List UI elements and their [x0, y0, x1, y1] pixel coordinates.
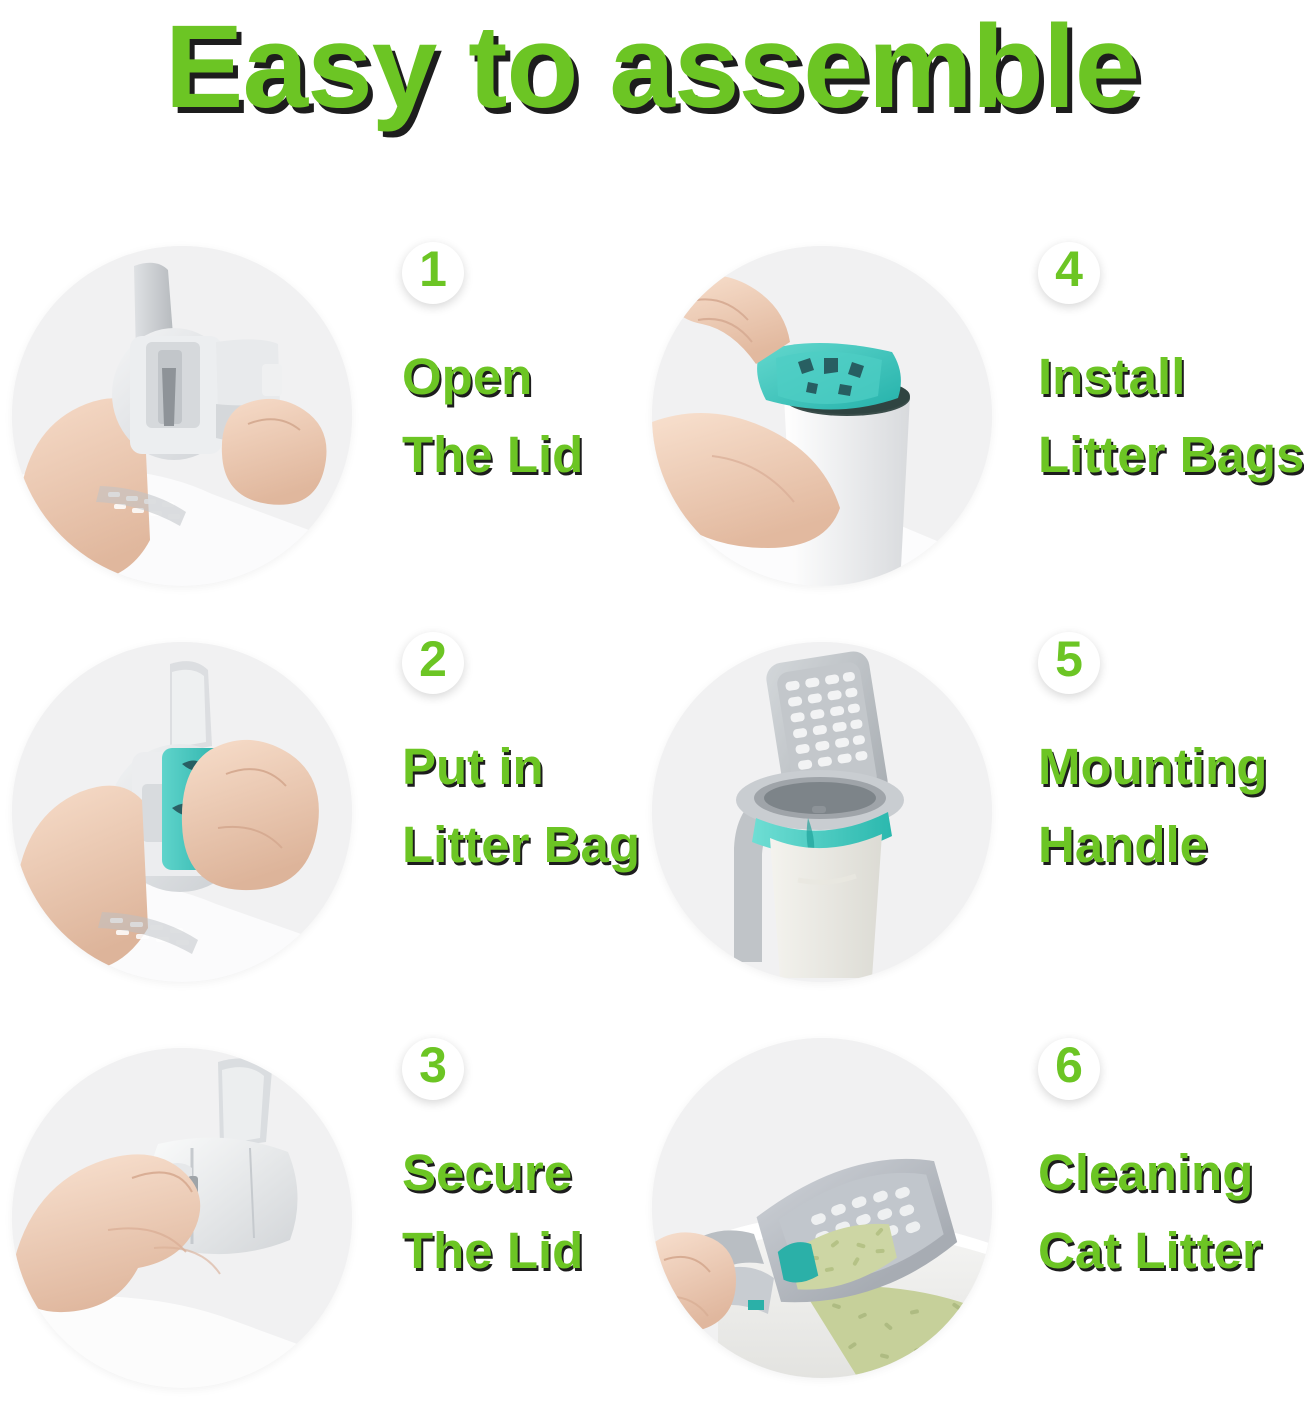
step-2-number: 2: [419, 634, 447, 684]
step-5-number: 5: [1055, 634, 1083, 684]
infographic-page: Easy to assemble: [0, 0, 1304, 1401]
step-1-text: 1 Open The Lid: [352, 232, 652, 493]
illustration-put-in-litter-bag: [12, 642, 352, 982]
step-3-number-badge: 3: [402, 1038, 464, 1100]
illustration-cleaning-cat-litter: [652, 1038, 992, 1378]
step-2-photo: [12, 642, 352, 982]
step-4-caption: Install Litter Bags: [1038, 338, 1304, 493]
step-1-number: 1: [419, 244, 447, 294]
step-4-number: 4: [1055, 244, 1083, 294]
step-5: 5 Mounting Handle: [652, 622, 1304, 1028]
step-4-photo: [652, 246, 992, 586]
step-1: 1 Open The Lid: [0, 232, 652, 622]
step-4: 4 Install Litter Bags: [652, 232, 1304, 622]
step-1-photo: [12, 246, 352, 586]
step-3-text: 3 Secure The Lid: [352, 1028, 652, 1289]
page-title: Easy to assemble: [0, 6, 1304, 130]
step-4-number-badge: 4: [1038, 242, 1100, 304]
illustration-open-lid: [12, 246, 352, 586]
illustration-mounting-handle: [652, 642, 992, 982]
step-6-text: 6 Cleaning Cat Litter: [992, 1028, 1304, 1289]
step-4-caption-line1: Install: [1038, 348, 1185, 405]
step-1-caption-line1: Open: [402, 348, 532, 405]
step-2-caption: Put in Litter Bag: [402, 728, 652, 883]
step-3: 3 Secure The Lid: [0, 1028, 652, 1401]
step-5-number-badge: 5: [1038, 632, 1100, 694]
step-3-caption-line2: The Lid: [402, 1212, 652, 1290]
step-4-caption-line2: Litter Bags: [1038, 416, 1304, 494]
step-2: 2 Put in Litter Bag: [0, 622, 652, 1028]
step-6-photo: [652, 1038, 992, 1378]
step-2-caption-line2: Litter Bag: [402, 806, 652, 884]
step-6-caption-line2: Cat Litter: [1038, 1212, 1304, 1290]
step-3-photo: [12, 1048, 352, 1388]
step-5-caption: Mounting Handle: [1038, 728, 1304, 883]
step-2-number-badge: 2: [402, 632, 464, 694]
step-3-caption: Secure The Lid: [402, 1134, 652, 1289]
steps-grid: 1 Open The Lid: [0, 232, 1304, 1401]
step-4-text: 4 Install Litter Bags: [992, 232, 1304, 493]
step-6: 6 Cleaning Cat Litter: [652, 1028, 1304, 1401]
step-1-number-badge: 1: [402, 242, 464, 304]
step-1-caption-line2: The Lid: [402, 416, 652, 494]
step-2-text: 2 Put in Litter Bag: [352, 622, 652, 883]
step-1-caption: Open The Lid: [402, 338, 652, 493]
step-5-photo: [652, 642, 992, 982]
step-2-caption-line1: Put in: [402, 738, 544, 795]
step-6-caption-line1: Cleaning: [1038, 1144, 1253, 1201]
step-3-caption-line1: Secure: [402, 1144, 572, 1201]
step-6-number-badge: 6: [1038, 1038, 1100, 1100]
step-5-caption-line1: Mounting: [1038, 738, 1267, 795]
step-5-text: 5 Mounting Handle: [992, 622, 1304, 883]
step-6-caption: Cleaning Cat Litter: [1038, 1134, 1304, 1289]
step-5-caption-line2: Handle: [1038, 806, 1304, 884]
illustration-install-litter-bags: [652, 246, 992, 586]
step-3-number: 3: [419, 1040, 447, 1090]
step-6-number: 6: [1055, 1040, 1083, 1090]
illustration-secure-lid: [12, 1048, 352, 1388]
